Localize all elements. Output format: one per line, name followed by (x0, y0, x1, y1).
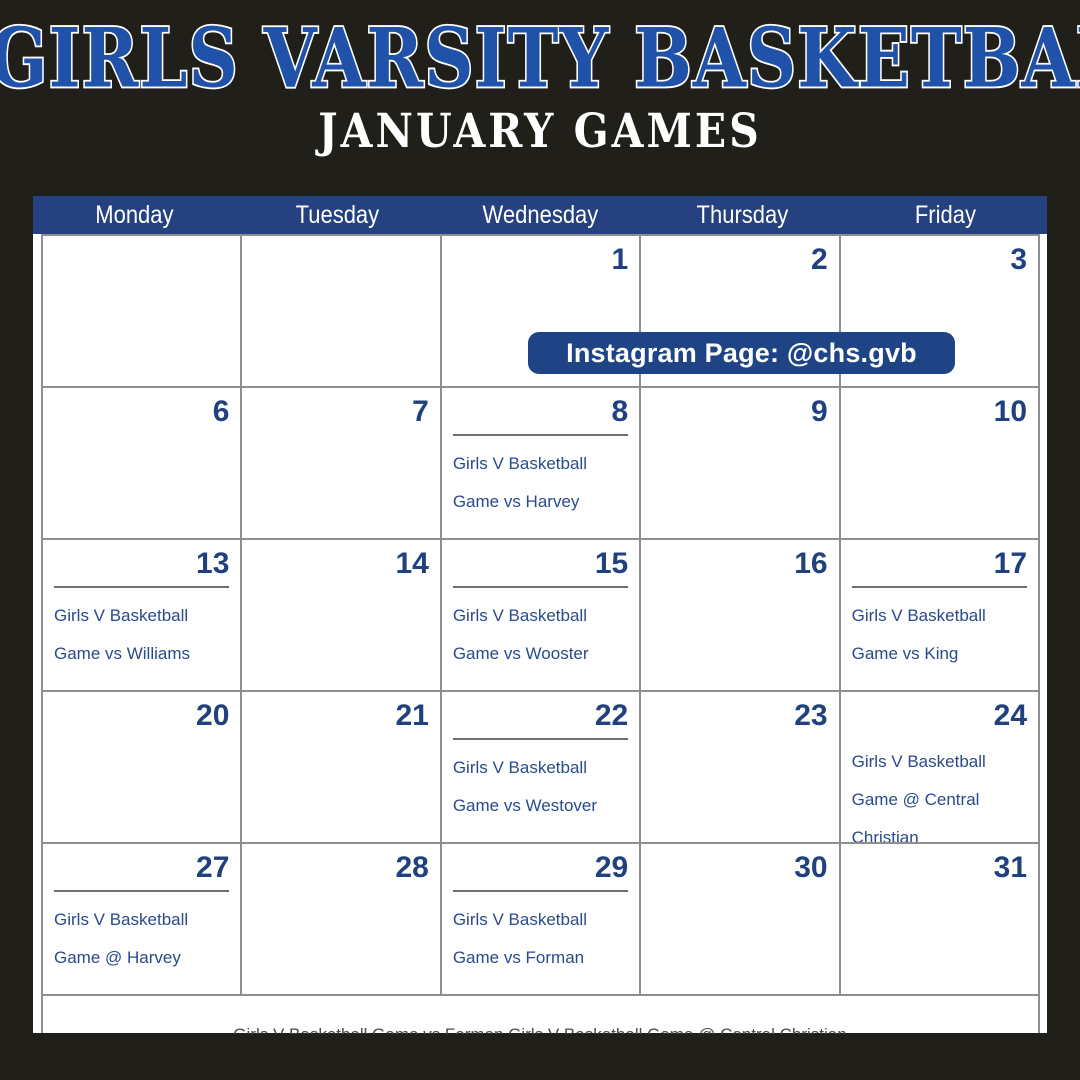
day-event: Girls V BasketballGame vs Forman (453, 901, 628, 977)
day-number: 20 (54, 698, 229, 734)
day-number: 9 (652, 394, 827, 430)
calendar-day-cell[interactable]: 14 (242, 540, 441, 690)
calendar-day-cell[interactable]: 6 (43, 388, 242, 538)
calendar-day-cell[interactable]: 17Girls V BasketballGame vs King (841, 540, 1038, 690)
day-divider (453, 738, 628, 740)
day-number: 29 (453, 850, 628, 886)
event-text-line: Game vs Williams (54, 635, 229, 673)
day-number: 1 (453, 242, 628, 278)
calendar-day-cell[interactable]: 16 (641, 540, 840, 690)
calendar-grid-wrapper: 123678Girls V BasketballGame vs Harvey91… (33, 234, 1047, 1033)
event-text-line: Game vs Wooster (453, 635, 628, 673)
day-number: 6 (54, 394, 229, 430)
event-text-line: Christian (852, 819, 1027, 842)
day-divider (852, 586, 1027, 588)
calendar-day-cell[interactable]: 9 (641, 388, 840, 538)
day-number: 10 (852, 394, 1027, 430)
calendar-day-cell[interactable]: 27Girls V BasketballGame @ Harvey (43, 844, 242, 994)
calendar-day-cell[interactable]: 30 (641, 844, 840, 994)
calendar-day-cell[interactable]: 28 (242, 844, 441, 994)
calendar-day-cell[interactable]: 10 (841, 388, 1038, 538)
day-number (54, 242, 229, 278)
event-text-line: Girls V Basketball (453, 597, 628, 635)
event-text-line: Girls V Basketball (852, 743, 1027, 781)
day-number: 17 (852, 546, 1027, 582)
event-text-line: Girls V Basketball (453, 749, 628, 787)
day-number: 28 (253, 850, 428, 886)
calendar-week-row: 27Girls V BasketballGame @ Harvey2829Gir… (43, 844, 1038, 996)
day-number: 22 (453, 698, 628, 734)
day-event: Girls V BasketballGame @ CentralChristia… (852, 743, 1027, 842)
day-number: 23 (652, 698, 827, 734)
day-number: 16 (652, 546, 827, 582)
calendar-day-cell-empty[interactable] (242, 236, 441, 386)
calendar-day-cell[interactable]: 7 (242, 388, 441, 538)
calendar-day-cell[interactable]: 15Girls V BasketballGame vs Wooster (442, 540, 641, 690)
day-divider (453, 434, 628, 436)
calendar: Monday Tuesday Wednesday Thursday Friday… (33, 196, 1047, 1033)
calendar-week-row: 678Girls V BasketballGame vs Harvey910 (43, 388, 1038, 540)
day-divider (54, 586, 229, 588)
clipped-footer-label: Girls V Basketball Game vs Forman Girls … (33, 1027, 1047, 1034)
day-number: 13 (54, 546, 229, 582)
calendar-day-cell[interactable]: 29Girls V BasketballGame vs Forman (442, 844, 641, 994)
day-event: Girls V BasketballGame vs Wooster (453, 597, 628, 673)
day-event: Girls V BasketballGame vs Westover (453, 749, 628, 825)
day-divider (453, 890, 628, 892)
instagram-page-badge[interactable]: Instagram Page: @chs.gvb (528, 332, 955, 374)
event-text-line: Game @ Central (852, 781, 1027, 819)
day-event: Girls V BasketballGame @ Harvey (54, 901, 229, 977)
calendar-day-cell[interactable]: 22Girls V BasketballGame vs Westover (442, 692, 641, 842)
weekday-label-friday: Friday (856, 196, 1034, 234)
day-number: 2 (652, 242, 827, 278)
day-number: 21 (253, 698, 428, 734)
calendar-day-cell[interactable]: 31 (841, 844, 1038, 994)
day-number: 31 (852, 850, 1027, 886)
page-subtitle: January Games (0, 108, 1080, 155)
calendar-day-cell[interactable]: 20 (43, 692, 242, 842)
clipped-footer-text: Girls V Basketball Game vs Forman Girls … (33, 1027, 1047, 1034)
event-text-line: Game vs King (852, 635, 1027, 673)
calendar-day-cell[interactable]: 13Girls V BasketballGame vs Williams (43, 540, 242, 690)
day-event: Girls V BasketballGame vs Harvey (453, 445, 628, 521)
event-text-line: Game @ Harvey (54, 939, 229, 977)
day-divider (453, 586, 628, 588)
calendar-day-cell[interactable]: 23 (641, 692, 840, 842)
day-number (253, 242, 428, 278)
event-text-line: Girls V Basketball (453, 445, 628, 483)
page-title: Girls Varsity Basketball (0, 17, 1080, 99)
day-number: 3 (852, 242, 1027, 278)
event-text-line: Game vs Harvey (453, 483, 628, 521)
calendar-day-cell-empty[interactable] (43, 236, 242, 386)
day-number: 15 (453, 546, 628, 582)
calendar-weekday-header: Monday Tuesday Wednesday Thursday Friday (33, 196, 1047, 234)
weekday-label-wednesday: Wednesday (451, 196, 629, 234)
day-number: 30 (652, 850, 827, 886)
day-number: 7 (253, 394, 428, 430)
event-text-line: Girls V Basketball (852, 597, 1027, 635)
poster-header: Girls Varsity Basketball January Games (0, 0, 1080, 190)
calendar-week-row: 13Girls V BasketballGame vs Williams1415… (43, 540, 1038, 692)
day-event: Girls V BasketballGame vs Williams (54, 597, 229, 673)
calendar-day-cell[interactable]: 21 (242, 692, 441, 842)
weekday-label-tuesday: Tuesday (248, 196, 426, 234)
event-text-line: Girls V Basketball (54, 901, 229, 939)
day-number: 14 (253, 546, 428, 582)
day-number: 27 (54, 850, 229, 886)
weekday-label-monday: Monday (45, 196, 223, 234)
event-text-line: Game vs Forman (453, 939, 628, 977)
calendar-day-cell[interactable]: 8Girls V BasketballGame vs Harvey (442, 388, 641, 538)
weekday-label-thursday: Thursday (654, 196, 832, 234)
event-text-line: Girls V Basketball (54, 597, 229, 635)
event-text-line: Girls V Basketball (453, 901, 628, 939)
day-divider (54, 890, 229, 892)
calendar-day-cell[interactable]: 24Girls V BasketballGame @ CentralChrist… (841, 692, 1038, 842)
event-text-line: Game vs Westover (453, 787, 628, 825)
day-event: Girls V BasketballGame vs King (852, 597, 1027, 673)
day-number: 24 (852, 698, 1027, 734)
calendar-week-row: 202122Girls V BasketballGame vs Westover… (43, 692, 1038, 844)
day-number: 8 (453, 394, 628, 430)
